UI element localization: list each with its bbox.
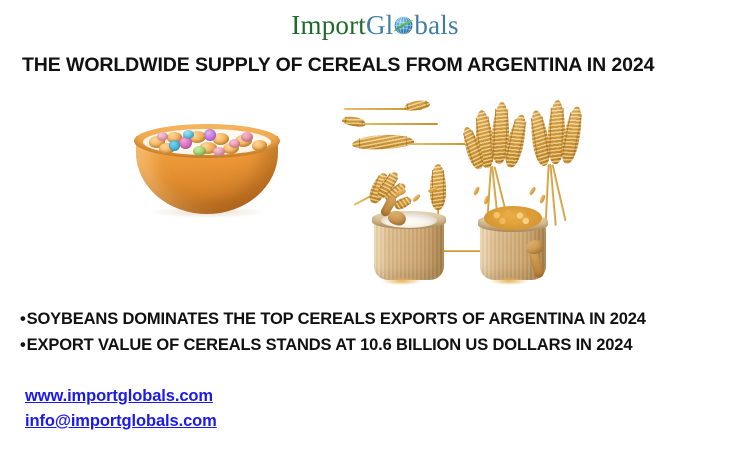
website-link[interactable]: www.importglobals.com — [25, 384, 213, 409]
logo-text-bals: bals — [414, 10, 458, 40]
bullet-text: EXPORT VALUE OF CEREALS STANDS AT 10.6 B… — [27, 336, 633, 354]
logo-text-gl: Gl — [366, 10, 393, 40]
page-title: THE WORLDWIDE SUPPLY OF CEREALS FROM ARG… — [22, 54, 732, 77]
list-item: •SOYBEANS DOMINATES THE TOP CEREALS EXPO… — [20, 306, 735, 332]
bullet-list: •SOYBEANS DOMINATES THE TOP CEREALS EXPO… — [20, 306, 735, 358]
footer-links: www.importglobals.com info@importglobals… — [25, 384, 217, 434]
list-item: •EXPORT VALUE OF CEREALS STANDS AT 10.6 … — [20, 332, 735, 358]
bowl-milk — [143, 129, 271, 155]
artwork-strip — [0, 92, 750, 297]
cereal-bowl-image — [128, 106, 286, 216]
brand-logo[interactable]: ImportGl — [0, 12, 750, 39]
bullet-marker: • — [20, 336, 26, 354]
grain-sacks-image — [362, 192, 567, 297]
email-link[interactable]: info@importglobals.com — [25, 409, 217, 434]
infographic-poster: ImportGl — [0, 0, 750, 450]
bullet-marker: • — [20, 310, 26, 328]
globe-icon — [392, 14, 415, 37]
bullet-text: SOYBEANS DOMINATES THE TOP CEREALS EXPOR… — [27, 310, 646, 328]
logo-text-import: Import — [291, 10, 366, 40]
